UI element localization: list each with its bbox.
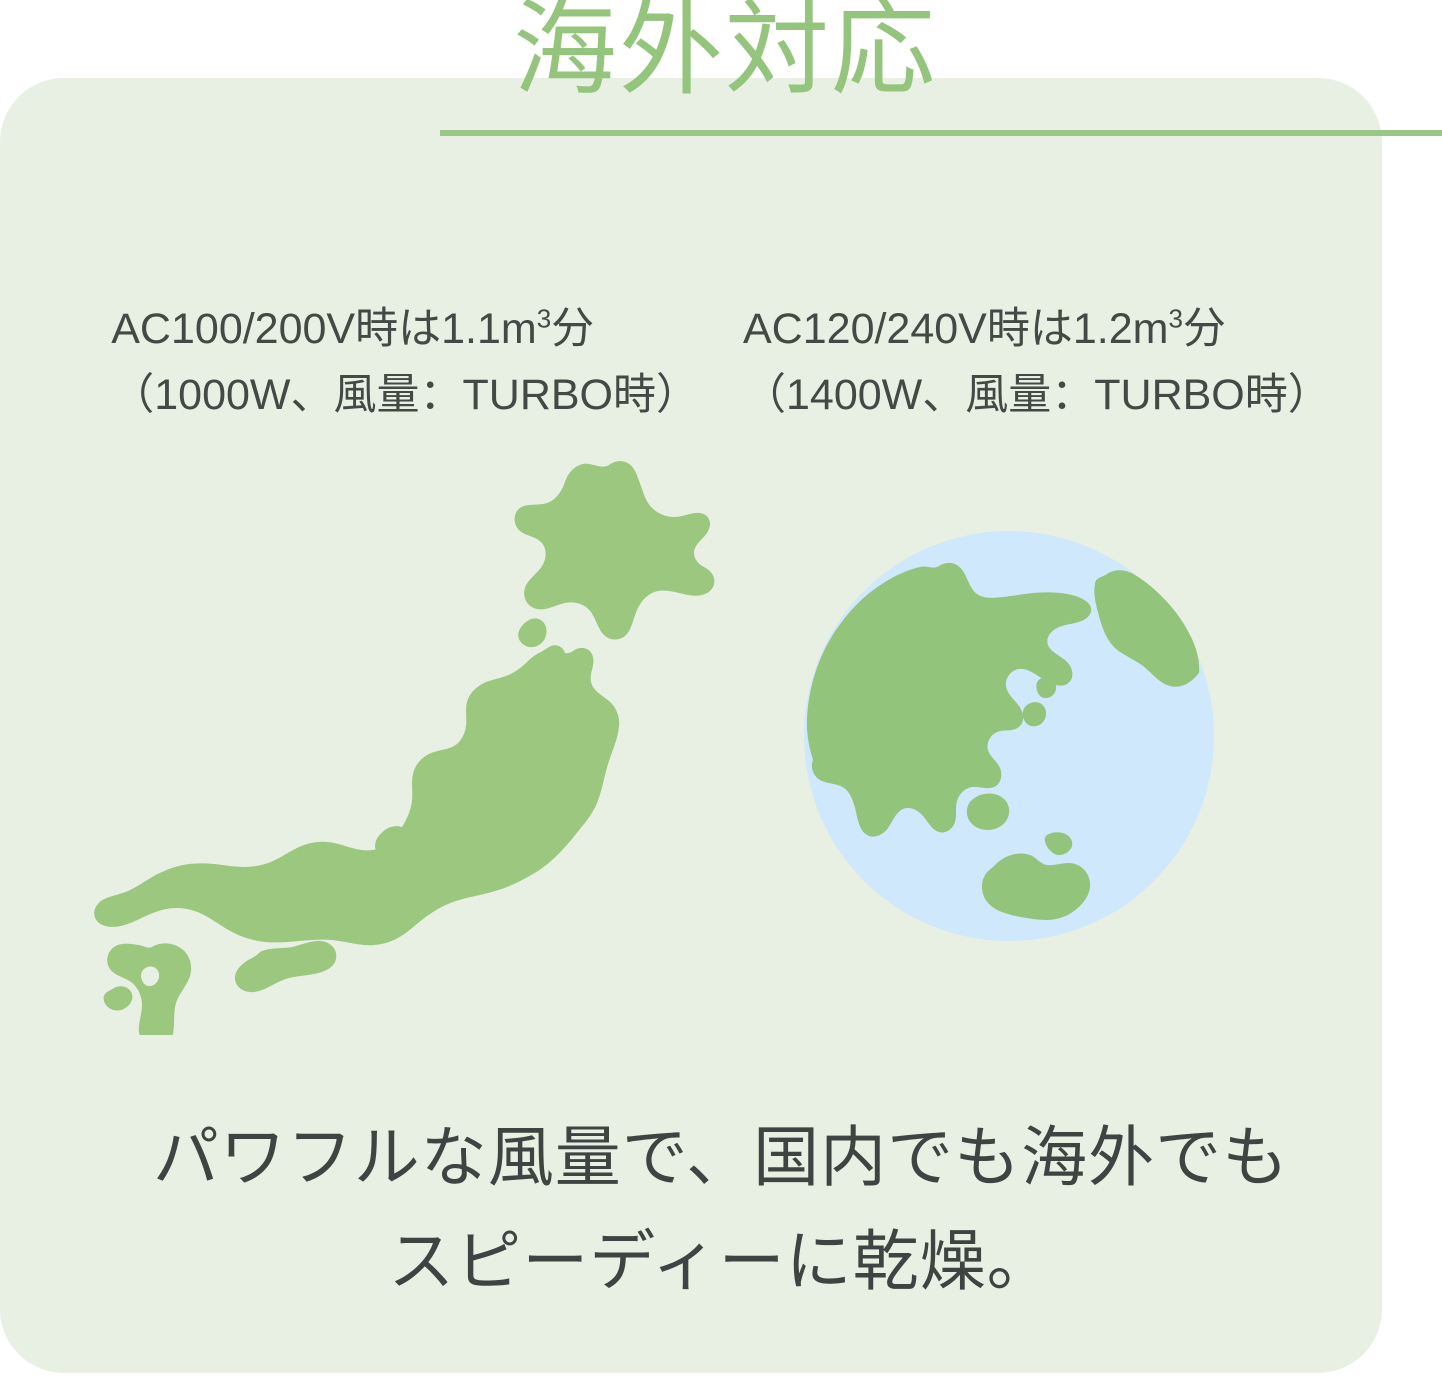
globe-icon — [800, 527, 1218, 945]
caption-line-1: パワフルな風量で、国内でも海外でも — [0, 1105, 1442, 1209]
spec-headline: AC100/200V時は1.1m3分 — [111, 296, 699, 362]
spec-headline-suffix: 分 — [551, 305, 594, 353]
caption-line-2: スピーディーに乾燥。 — [0, 1209, 1442, 1313]
spec-headline-superscript: 3 — [537, 304, 551, 334]
spec-columns: AC100/200V時は1.1m3分 （1000W、風量：TURBO時） AC1… — [0, 296, 1442, 428]
page-title: 海外対応 — [0, 0, 1442, 106]
spec-subtext: （1000W、風量：TURBO時） — [111, 362, 699, 428]
artwork-row — [0, 455, 1442, 1055]
spec-subtext: （1400W、風量：TURBO時） — [743, 362, 1331, 428]
spec-headline-prefix: AC120/240V時は1.2m — [743, 305, 1168, 353]
spec-headline: AC120/240V時は1.2m3分 — [743, 296, 1331, 362]
spec-headline-prefix: AC100/200V時は1.1m — [111, 305, 536, 353]
spec-column-ac100: AC100/200V時は1.1m3分 （1000W、風量：TURBO時） — [111, 296, 699, 428]
title-underline-rule — [440, 130, 1442, 136]
feature-caption: パワフルな風量で、国内でも海外でも スピーディーに乾燥。 — [0, 1105, 1442, 1313]
spec-column-ac120: AC120/240V時は1.2m3分 （1400W、風量：TURBO時） — [743, 296, 1331, 428]
spec-headline-suffix: 分 — [1183, 305, 1226, 353]
japan-map-icon — [92, 455, 732, 1035]
spec-headline-superscript: 3 — [1168, 304, 1182, 334]
